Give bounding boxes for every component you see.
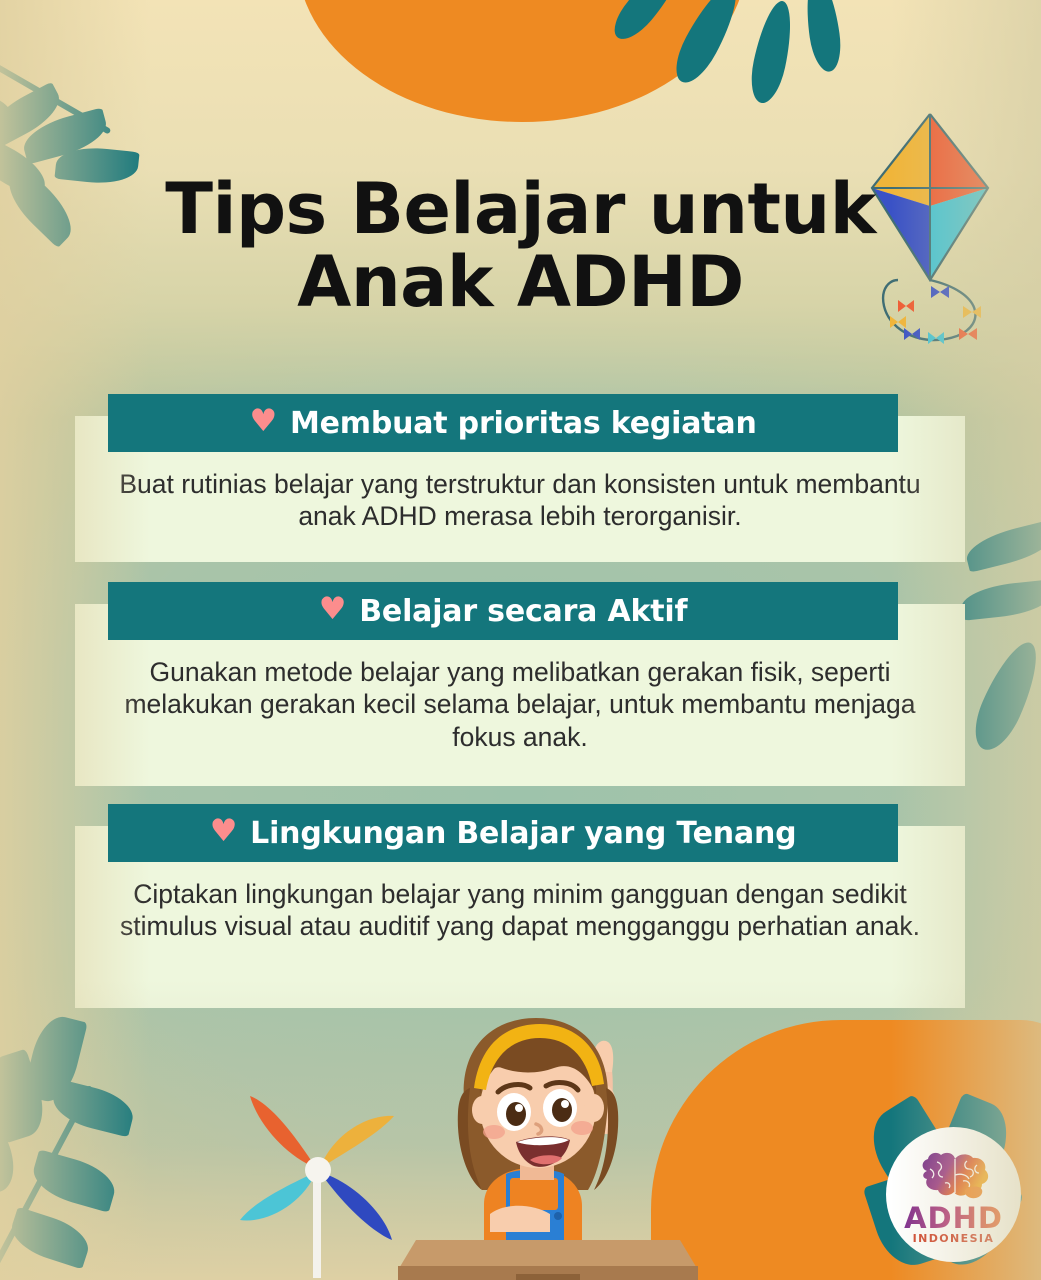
pinwheel-icon: [228, 1080, 408, 1280]
tip-card-1-heading: Membuat prioritas kegiatan: [290, 406, 757, 441]
tip-card-2-heading: Belajar secara Aktif: [359, 594, 687, 629]
page-title-line-1: Tips Belajar untuk: [0, 176, 1041, 244]
tip-card-3-heading: Lingkungan Belajar yang Tenang: [250, 816, 796, 851]
tip-card-3-header: ♥ Lingkungan Belajar yang Tenang: [108, 804, 898, 862]
girl-raising-hand-illustration: [398, 1008, 698, 1280]
infographic-poster: Tips Belajar untuk Anak ADHD Buat rutini…: [0, 0, 1041, 1280]
right-vignette: [891, 0, 1041, 1280]
page-title-line-2: Anak ADHD: [0, 249, 1041, 317]
heart-icon: ♥: [210, 816, 238, 847]
left-vignette: [0, 0, 150, 1280]
tip-card-2-header: ♥ Belajar secara Aktif: [108, 582, 898, 640]
tip-card-1-header: ♥ Membuat prioritas kegiatan: [108, 394, 898, 452]
heart-icon: ♥: [249, 406, 277, 437]
heart-icon: ♥: [319, 594, 347, 625]
page-title: Tips Belajar untuk Anak ADHD: [0, 176, 1041, 317]
